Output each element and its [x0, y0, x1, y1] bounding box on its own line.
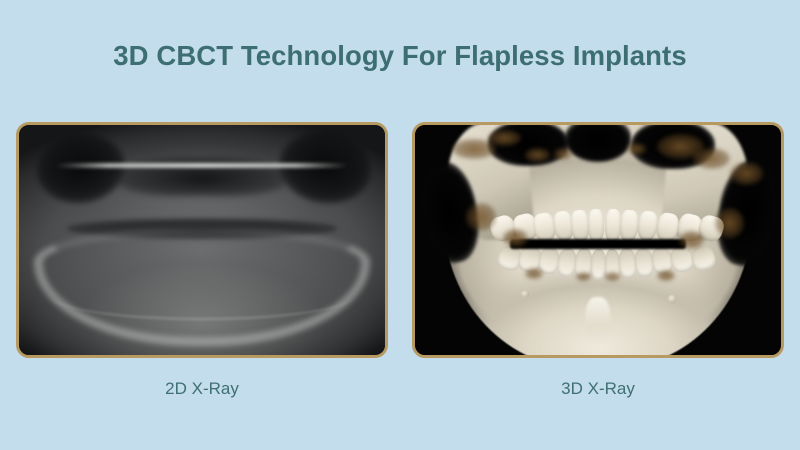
tooth-lower	[343, 125, 372, 128]
tooth-lower	[122, 125, 144, 126]
ct-stain-patch	[554, 148, 572, 160]
tooth-lower	[57, 125, 86, 128]
caption-3d-xray: 3D X-Ray	[412, 378, 784, 400]
maxillary-sinus-left	[33, 128, 130, 209]
tooth-root	[290, 125, 300, 126]
panel-inner-2d	[19, 125, 385, 355]
tooth-root	[125, 125, 135, 126]
ct-stain-patch	[466, 203, 495, 231]
image-panel-3d-xray[interactable]	[412, 122, 784, 358]
tooth-root	[319, 125, 331, 126]
tooth-lower	[286, 125, 308, 126]
tooth-root	[65, 125, 78, 126]
tooth-upper	[148, 125, 168, 126]
tooth-upper	[88, 125, 114, 127]
interocclusal-gap	[510, 239, 686, 249]
caption-2d-xray: 2D X-Ray	[16, 378, 388, 400]
tooth-upper	[233, 125, 251, 126]
mandibular-canal	[48, 268, 355, 321]
tooth-upper	[341, 125, 371, 129]
panel-inner-3d	[415, 125, 781, 355]
tooth-lower	[261, 125, 279, 126]
tooth-lower	[151, 125, 169, 126]
mental-symphysis-ridge	[586, 297, 611, 343]
page-title: 3D CBCT Technology For Flapless Implants	[0, 39, 800, 73]
tooth-lower-3d	[618, 248, 637, 279]
slide-canvas: 3D CBCT Technology For Flapless Implants…	[0, 0, 800, 450]
tooth-root	[127, 125, 137, 126]
tooth-upper-3d	[604, 208, 621, 242]
tooth-upper	[175, 125, 193, 126]
ct-stain-patch	[525, 268, 543, 280]
ct-stain-patch	[693, 148, 730, 169]
tooth-upper	[258, 125, 278, 126]
tooth-root	[349, 125, 363, 127]
tooth-lower-3d	[590, 249, 606, 281]
tooth-upper	[119, 125, 141, 127]
ct-stain-patch	[452, 139, 496, 160]
ct-stain-patch	[525, 148, 551, 162]
ct-stain-patch	[730, 162, 763, 185]
tooth-upper	[53, 125, 83, 129]
tooth-root	[292, 125, 302, 126]
mental-foramen-node	[668, 295, 677, 302]
tooth-root	[321, 125, 333, 126]
tooth-root	[61, 125, 75, 127]
tooth-upper	[312, 125, 338, 127]
tooth-root	[95, 125, 107, 126]
tooth-upper-3d	[588, 208, 605, 242]
ct-stain-patch	[503, 229, 529, 247]
tooth-lower	[314, 125, 339, 127]
image-panel-2d-xray[interactable]	[16, 122, 388, 358]
tooth-root	[97, 125, 109, 126]
ct-stain-patch	[715, 208, 744, 238]
cbct-render-image	[415, 125, 781, 355]
tooth-lower	[91, 125, 116, 127]
ct-stain-patch	[488, 130, 521, 146]
tooth-root	[351, 125, 364, 126]
panoramic-xray-image	[19, 125, 385, 355]
tooth-upper	[284, 125, 306, 127]
ct-stain-patch	[627, 143, 645, 155]
hard-palate-line	[56, 163, 349, 168]
